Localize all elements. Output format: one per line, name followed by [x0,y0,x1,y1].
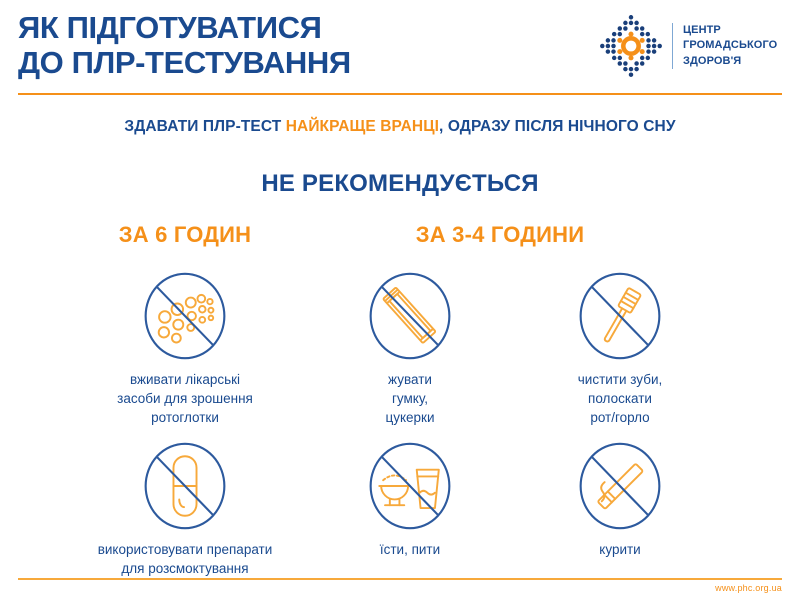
page-title: ЯК ПІДГОТУВАТИСЯ ДО ПЛР-ТЕСТУВАННЯ [18,10,578,80]
item-smoking: курити [505,438,735,559]
subtitle-highlight: НАЙКРАЩЕ ВРАНЦІ [286,118,439,135]
phc-logo-mark [596,11,666,81]
icon-container [70,438,300,534]
icon-container [70,268,300,364]
icon-container [505,438,735,534]
item-caption: жувати гумку, цукерки [295,370,525,427]
capsule-pill-icon [137,438,233,534]
subtitle: ЗДАВАТИ ПЛР-ТЕСТ НАЙКРАЩЕ ВРАНЦІ, ОДРАЗУ… [0,118,800,136]
caption-line-2: полоскати [505,389,735,408]
title-line-2: ДО ПЛР-ТЕСТУВАННЯ [18,45,578,80]
subtitle-part-1: ЗДАВАТИ ПЛР-ТЕСТ [124,118,285,135]
column-heading-3-4-hours: ЗА 3-4 ГОДИНИ [370,222,630,248]
header-divider [18,93,782,95]
caption-line-1: курити [505,540,735,559]
logo: ЦЕНТР ГРОМАДСЬКОГО ЗДОРОВ'Я [596,10,786,82]
caption-line-2: гумку, [295,389,525,408]
logo-text-line-3: ЗДОРОВ'Я [683,54,777,69]
header: ЯК ПІДГОТУВАТИСЯ ДО ПЛР-ТЕСТУВАННЯ [0,0,800,95]
footer-divider [18,578,782,580]
item-caption: використовувати препарати для розсмоктув… [70,540,300,578]
icon-container [295,438,525,534]
item-spray-medication: вживати лікарські засоби для зрошення ро… [70,268,300,427]
spray-droplets-icon [137,268,233,364]
toothbrush-icon [572,268,668,364]
cigarette-icon [572,438,668,534]
icon-container [295,268,525,364]
logo-divider [672,23,673,69]
caption-line-1: їсти, пити [295,540,525,559]
chewing-gum-icon [362,268,458,364]
logo-text: ЦЕНТР ГРОМАДСЬКОГО ЗДОРОВ'Я [683,23,777,69]
section-heading: НЕ РЕКОМЕНДУЄТЬСЯ [0,170,800,198]
item-food-and-drink: їсти, пити [295,438,525,559]
caption-line-3: цукерки [295,408,525,427]
caption-line-1: вживати лікарські [70,370,300,389]
item-chewing-gum: жувати гумку, цукерки [295,268,525,427]
caption-line-1: використовувати препарати [70,540,300,559]
item-caption: чистити зуби, полоскати рот/горло [505,370,735,427]
column-heading-6-hours: ЗА 6 ГОДИН [85,222,285,248]
item-caption: вживати лікарські засоби для зрошення ро… [70,370,300,427]
logo-text-line-2: ГРОМАДСЬКОГО [683,38,777,53]
caption-line-3: ротоглотки [70,408,300,427]
item-caption: курити [505,540,735,559]
caption-line-1: жувати [295,370,525,389]
infographic-poster: ЯК ПІДГОТУВАТИСЯ ДО ПЛР-ТЕСТУВАННЯ [0,0,800,600]
caption-line-3: рот/горло [505,408,735,427]
icon-container [505,268,735,364]
footer-url[interactable]: www.phc.org.ua [715,583,782,593]
food-and-drink-icon [362,438,458,534]
caption-line-2: засоби для зрошення [70,389,300,408]
caption-line-1: чистити зуби, [505,370,735,389]
item-toothbrush: чистити зуби, полоскати рот/горло [505,268,735,427]
item-caption: їсти, пити [295,540,525,559]
title-line-1: ЯК ПІДГОТУВАТИСЯ [18,10,578,45]
item-lozenge-medication: використовувати препарати для розсмоктув… [70,438,300,578]
caption-line-2: для розсмоктування [70,559,300,578]
subtitle-part-2: , ОДРАЗУ ПІСЛЯ НІЧНОГО СНУ [439,118,676,135]
logo-text-line-1: ЦЕНТР [683,23,777,38]
